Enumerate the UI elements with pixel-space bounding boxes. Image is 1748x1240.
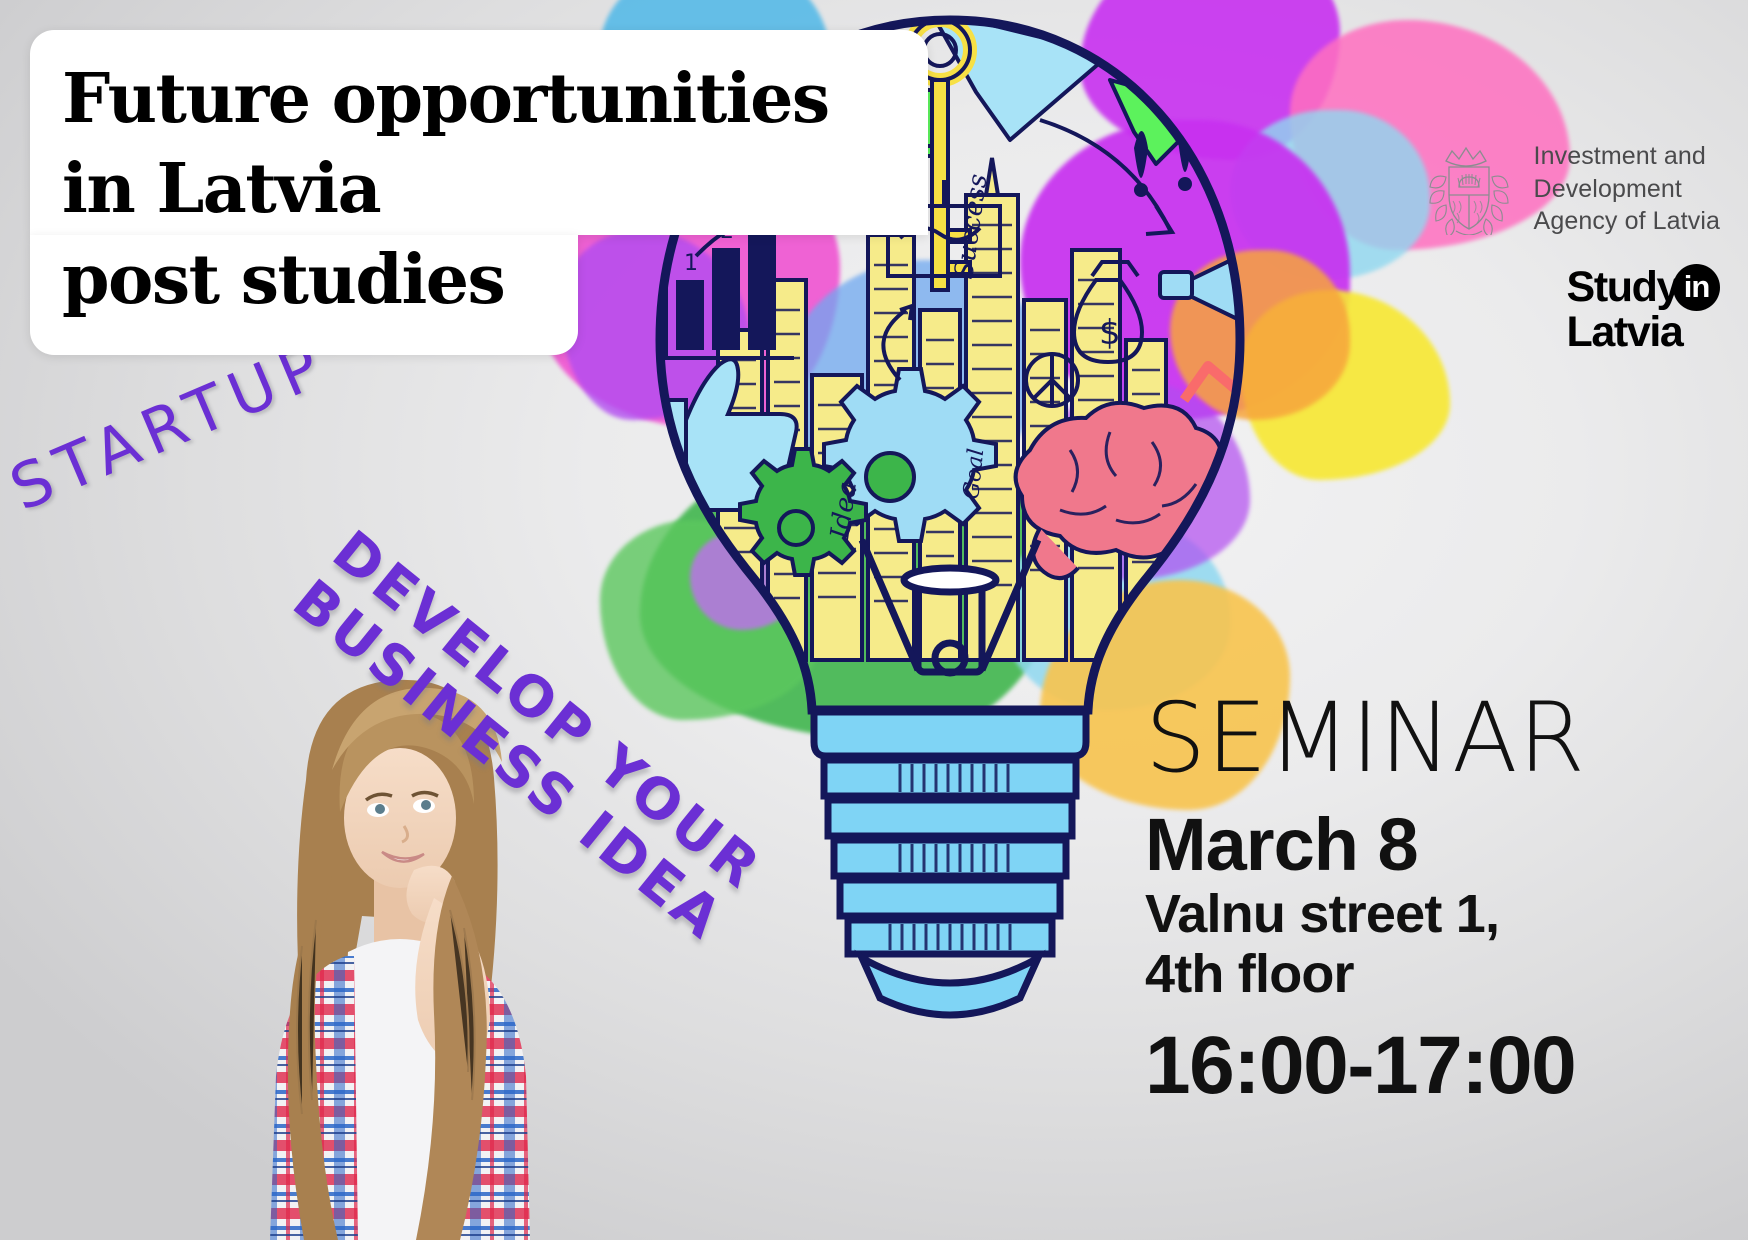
idal-line-1: Investment and bbox=[1534, 140, 1720, 173]
idal-line-3: Agency of Latvia bbox=[1534, 205, 1720, 238]
study-in-latvia-logo: Study in Latvia bbox=[1567, 264, 1720, 353]
bulb-screw-base bbox=[814, 712, 1086, 1015]
title-line-1: Future opportunities bbox=[62, 54, 882, 144]
seminar-address-line-2: 4th floor bbox=[1145, 944, 1585, 1004]
title-line-3: post studies bbox=[62, 235, 532, 325]
study-word: Study bbox=[1567, 266, 1679, 308]
idal-line-2: Development bbox=[1534, 173, 1720, 206]
title-band-lower: post studies bbox=[30, 235, 578, 355]
seminar-address-line-1: Valnu street 1, bbox=[1145, 884, 1585, 944]
title-card: Future opportunities in Latvia post stud… bbox=[30, 30, 928, 355]
trend-arrow-head bbox=[1240, 298, 1278, 336]
seminar-heading: SEMINAR bbox=[1145, 690, 1585, 786]
seminar-info-block: SEMINAR March 8 Valnu street 1, 4th floo… bbox=[1145, 690, 1585, 1111]
seminar-date: March 8 bbox=[1145, 806, 1585, 884]
svg-text:Goal: Goal bbox=[959, 447, 989, 500]
idal-logo: Investment and Development Agency of Lat… bbox=[1426, 140, 1720, 238]
startup-decor-word: STARTUP bbox=[0, 326, 339, 525]
svg-text:$: $ bbox=[1099, 313, 1121, 353]
trend-arrow-icon bbox=[1184, 332, 1264, 400]
idal-logo-text: Investment and Development Agency of Lat… bbox=[1534, 140, 1720, 238]
in-badge-icon: in bbox=[1673, 264, 1720, 311]
brain-icon bbox=[1016, 403, 1228, 578]
title-line-2: in Latvia bbox=[62, 144, 882, 234]
poster-root: 123 $ bbox=[0, 0, 1748, 1240]
latvia-word: Latvia bbox=[1567, 311, 1683, 353]
latvia-coat-of-arms-icon bbox=[1426, 143, 1512, 235]
logo-block: Investment and Development Agency of Lat… bbox=[1426, 140, 1720, 353]
seminar-time: 16:00-17:00 bbox=[1145, 1021, 1585, 1111]
study-in-latvia-row-1: Study in bbox=[1567, 264, 1720, 311]
title-band-upper: Future opportunities in Latvia bbox=[30, 30, 928, 235]
megaphone-icon bbox=[1160, 246, 1260, 330]
